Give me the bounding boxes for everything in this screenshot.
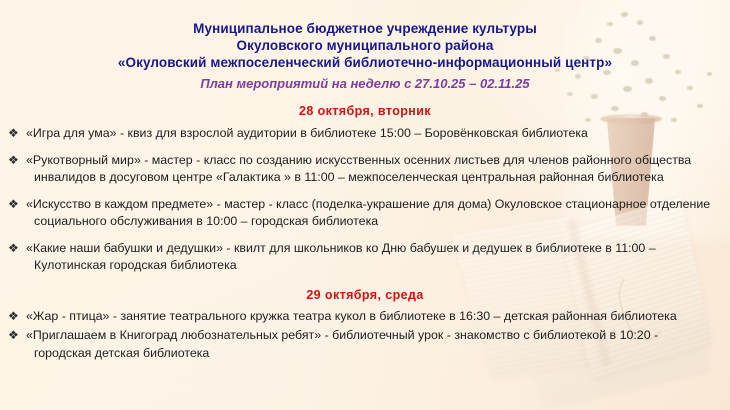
day-section-2: 29 октября, среда ❖ «Жар - птица» - заня… — [0, 288, 730, 363]
event-text-line-2: Кулотинская городская библиотека — [26, 257, 724, 275]
diamond-bullet-icon: ❖ — [8, 125, 19, 143]
event-list-1: ❖ «Игра для ума» - квиз для взрослой ауд… — [0, 125, 730, 275]
list-item: ❖ «Жар - птица» - занятие театрального к… — [0, 308, 730, 326]
list-item: ❖ «Игра для ума» - квиз для взрослой ауд… — [0, 125, 730, 143]
event-text-line-2: городская детская библиотека — [26, 345, 724, 363]
event-text-line-1: «Искусство в каждом предмете» - мастер -… — [26, 196, 724, 214]
list-item: ❖ «Приглашаем в Книгоград любознательных… — [0, 327, 730, 362]
event-list-2: ❖ «Жар - птица» - занятие театрального к… — [0, 308, 730, 363]
organization-line-2: Окуловского муниципального района — [0, 37, 730, 54]
diamond-bullet-icon: ❖ — [8, 308, 19, 326]
event-text-line-2: социального обслуживания в 10:00 – город… — [26, 213, 724, 231]
event-text-line-2: инвалидов в досуговом центре «Галактика … — [26, 169, 724, 187]
event-plan-poster: Муниципальное бюджетное учреждение культ… — [0, 0, 730, 410]
event-text-line-1: «Игра для ума» - квиз для взрослой аудит… — [26, 125, 724, 143]
organization-line-3: «Окуловский межпоселенческий библиотечно… — [0, 54, 730, 71]
poster-content: Муниципальное бюджетное учреждение культ… — [0, 0, 730, 410]
event-text-line-1: «Рукотворный мир» - мастер - класс по со… — [26, 152, 724, 170]
list-item: ❖ «Рукотворный мир» - мастер - класс по … — [0, 152, 730, 187]
day-section-1: 28 октября, вторник ❖ «Игра для ума» - к… — [0, 104, 730, 275]
list-item: ❖ «Какие наши бабушки и дедушки» - квилт… — [0, 240, 730, 275]
day-heading-2: 29 октября, среда — [0, 288, 730, 302]
event-text-line-1: «Жар - птица» - занятие театрального кру… — [26, 308, 724, 326]
event-text-line-1: «Приглашаем в Книгоград любознательных р… — [26, 327, 724, 345]
day-heading-1: 28 октября, вторник — [0, 104, 730, 118]
list-item: ❖ «Искусство в каждом предмете» - мастер… — [0, 196, 730, 231]
diamond-bullet-icon: ❖ — [8, 240, 19, 258]
poster-header: Муниципальное бюджетное учреждение культ… — [0, 0, 730, 92]
diamond-bullet-icon: ❖ — [8, 327, 19, 345]
diamond-bullet-icon: ❖ — [8, 196, 19, 214]
event-text-line-1: «Какие наши бабушки и дедушки» - квилт д… — [26, 240, 724, 258]
diamond-bullet-icon: ❖ — [8, 152, 19, 170]
plan-period-subtitle: План мероприятий на неделю с 27.10.25 – … — [0, 75, 730, 92]
organization-line-1: Муниципальное бюджетное учреждение культ… — [0, 20, 730, 37]
